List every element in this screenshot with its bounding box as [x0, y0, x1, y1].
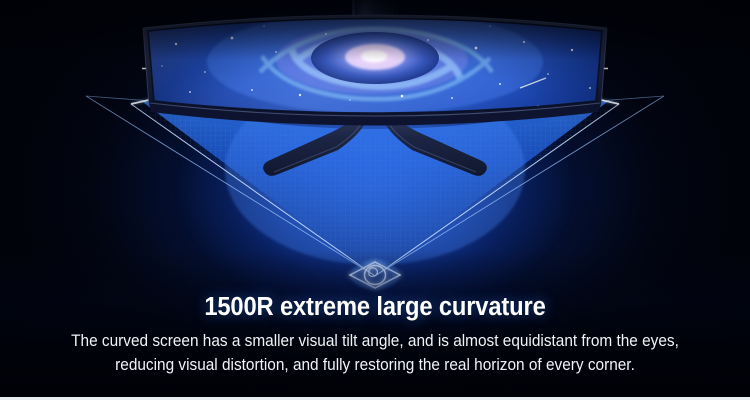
headline: 1500R extreme large curvature: [26, 293, 724, 321]
body-text-line-1: The curved screen has a smaller visual t…: [19, 330, 732, 354]
top-fade: [0, 0, 750, 60]
promo-banner: 1500R extreme large curvature The curved…: [0, 0, 750, 400]
body-text-line-2: reducing visual distortion, and fully re…: [19, 354, 732, 378]
copy-block: 1500R extreme large curvature The curved…: [0, 293, 750, 378]
